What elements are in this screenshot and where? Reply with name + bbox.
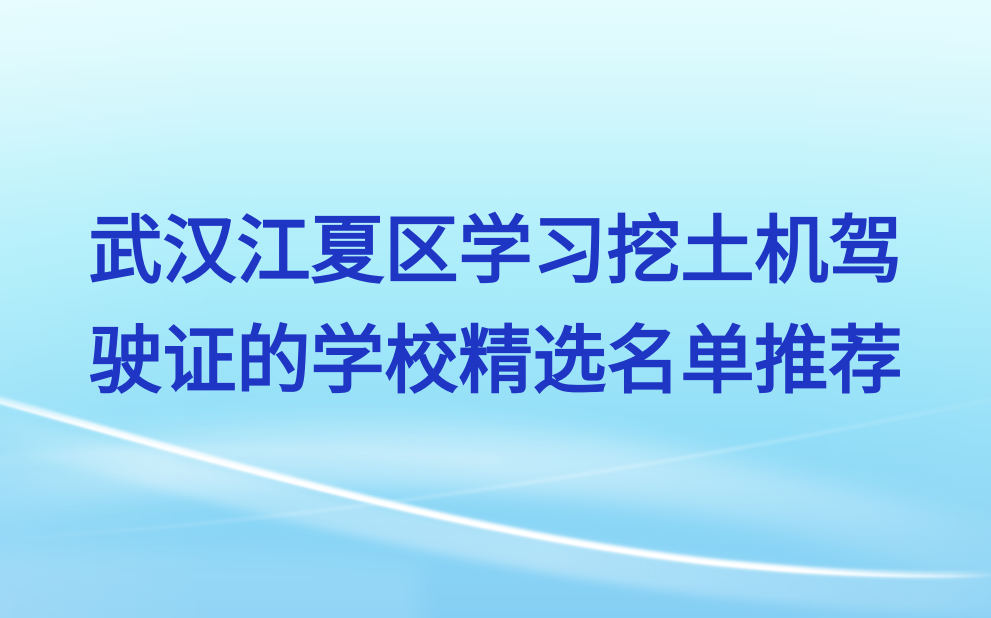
swoosh-bright-arc [0,394,991,576]
swoosh-bright-arc-glow [0,392,991,575]
swoosh-lower-halo [0,404,991,612]
page-title: 武汉江夏区学习挖土机驾 驶证的学校精选名单推荐 [0,196,991,416]
swoosh-glow-band-wide [0,441,991,600]
swoosh-faint-crossing-line [0,450,500,462]
headline-line-2: 驶证的学校精选名单推荐 [0,306,991,416]
swoosh-bottom-left-wash [0,551,420,618]
swoosh-secondary-thin-line [0,396,991,540]
banner-card: 武汉江夏区学习挖土机驾 驶证的学校精选名单推荐 [0,0,991,618]
headline-line-1: 武汉江夏区学习挖土机驾 [0,196,991,306]
swoosh-glow-band-upper [0,415,991,554]
